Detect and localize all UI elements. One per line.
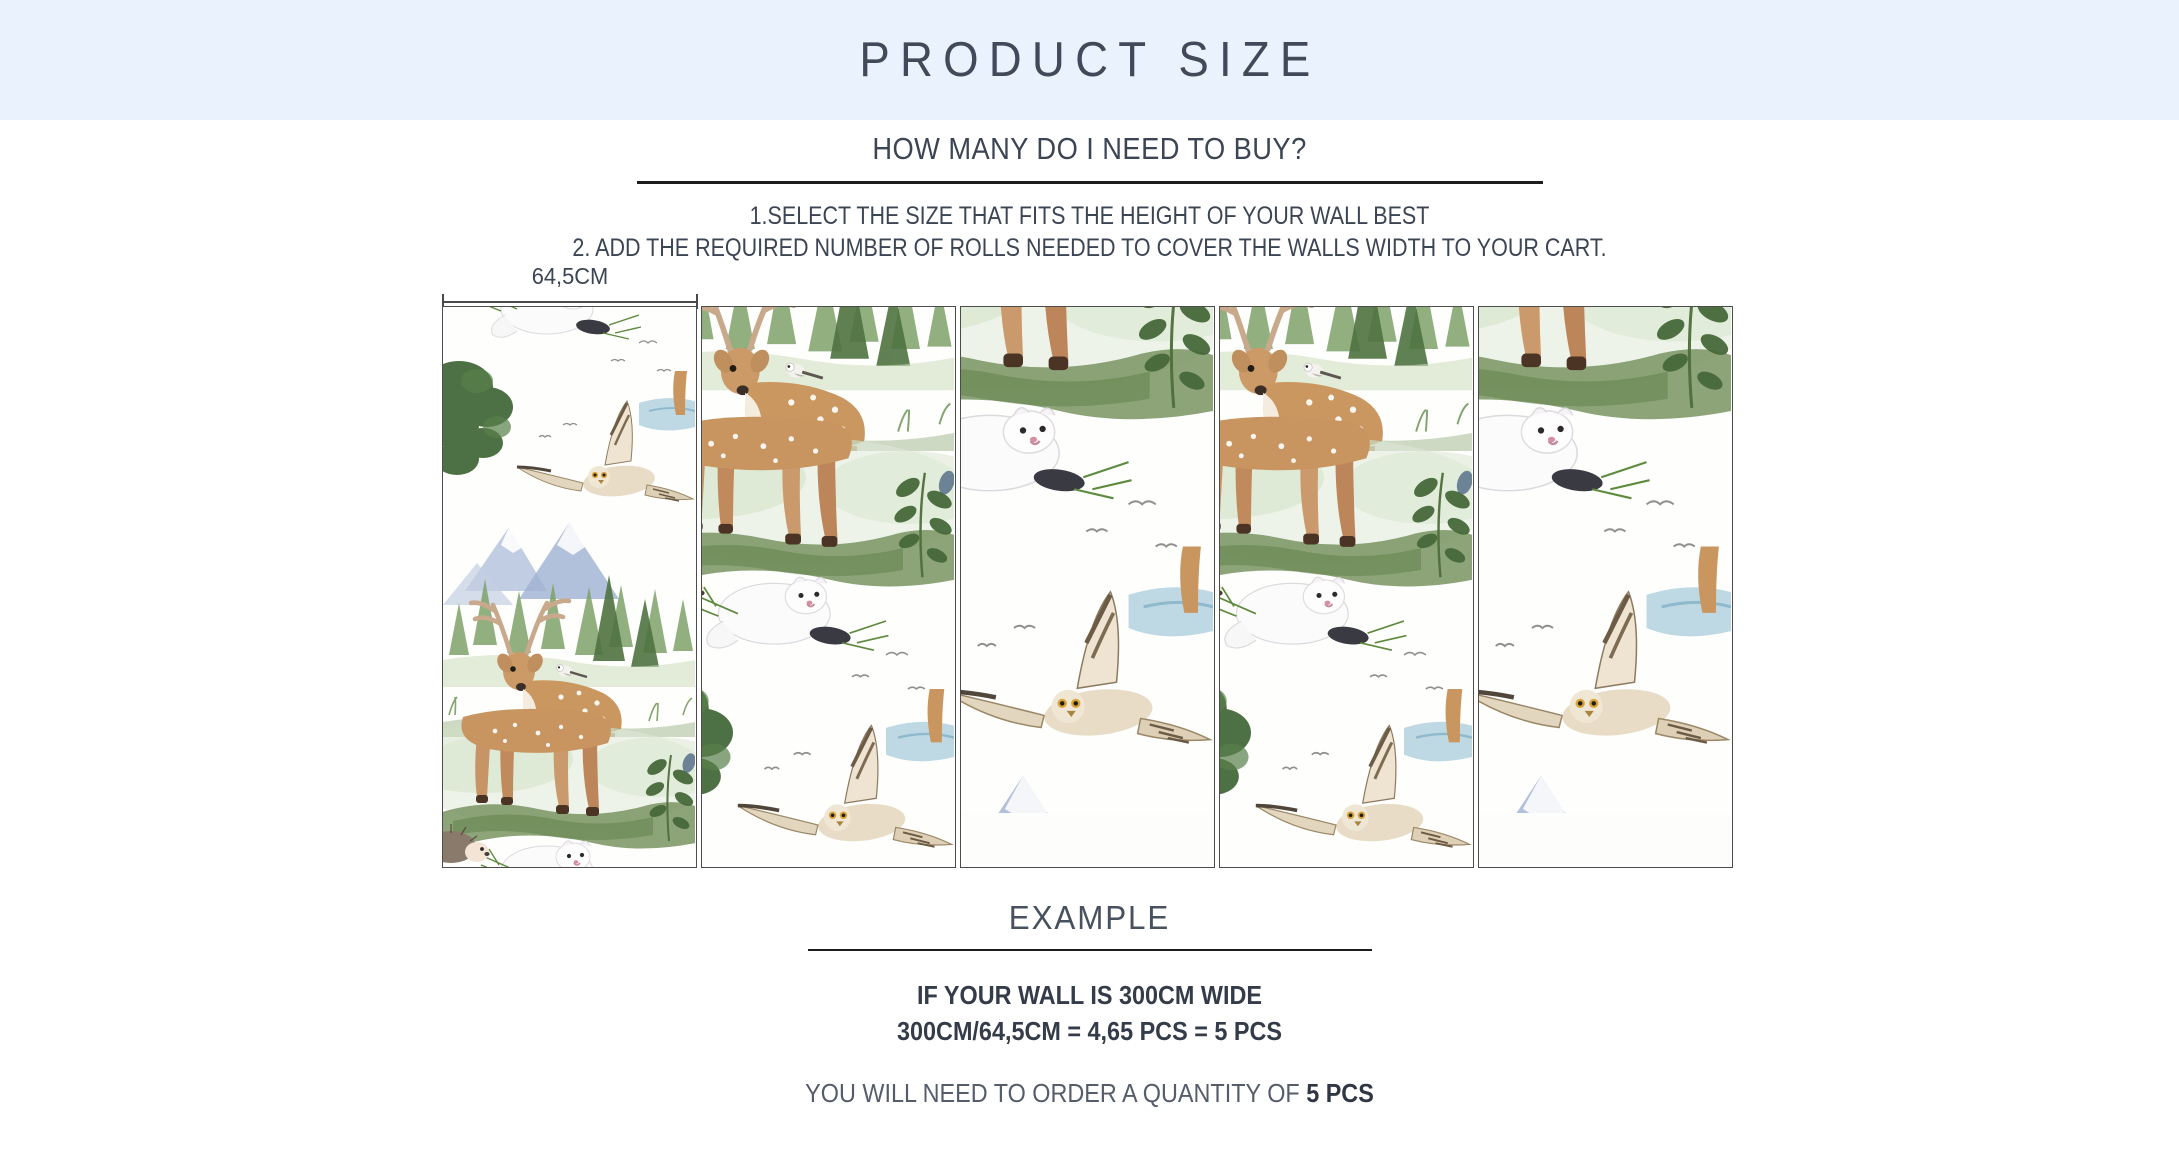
wallpaper-panel-3[interactable]: [960, 306, 1215, 868]
wallpaper-panel-1[interactable]: [442, 306, 697, 868]
wallpaper-panel-4[interactable]: [1219, 306, 1474, 868]
panel-artwork: [443, 306, 695, 868]
page-title: PRODUCT SIZE: [859, 32, 1320, 88]
example-conclusion-quantity: 5 PCS: [1306, 1078, 1374, 1108]
roll-width-measurement: 64,5CM: [442, 263, 698, 309]
wallpaper-panel-5[interactable]: [1478, 306, 1733, 868]
instruction-step-2: 2. ADD THE REQUIRED NUMBER OF ROLLS NEED…: [153, 232, 2027, 264]
panel-artwork: [1478, 306, 1731, 813]
example-conclusion-prefix: YOU WILL NEED TO ORDER A QUANTITY OF: [805, 1078, 1306, 1108]
example-divider: [808, 949, 1372, 951]
measurement-label: 64,5CM: [448, 263, 691, 289]
example-calculation: 300CM/64,5CM = 4,65 PCS = 5 PCS: [109, 1013, 2070, 1049]
instruction-step-1: 1.SELECT THE SIZE THAT FITS THE HEIGHT O…: [153, 200, 2027, 232]
instructions-heading: HOW MANY DO I NEED TO BUY?: [131, 128, 2049, 170]
instructions-divider: [637, 181, 1543, 184]
panel-artwork: [960, 306, 1213, 813]
instructions-section: HOW MANY DO I NEED TO BUY? 1.SELECT THE …: [0, 128, 2179, 264]
example-heading: EXAMPLE: [54, 898, 2124, 938]
panel-artwork: [701, 306, 954, 868]
example-section: EXAMPLE IF YOUR WALL IS 300CM WIDE 300CM…: [0, 898, 2179, 1111]
example-wall-width: IF YOUR WALL IS 300CM WIDE: [109, 977, 2070, 1013]
example-conclusion: YOU WILL NEED TO ORDER A QUANTITY OF 5 P…: [109, 1075, 2070, 1111]
wallpaper-panel-strip: [442, 306, 1735, 868]
page-header: PRODUCT SIZE: [0, 0, 2179, 120]
measurement-line: [442, 301, 698, 303]
panel-artwork: [1219, 306, 1472, 868]
wallpaper-panel-2[interactable]: [701, 306, 956, 868]
